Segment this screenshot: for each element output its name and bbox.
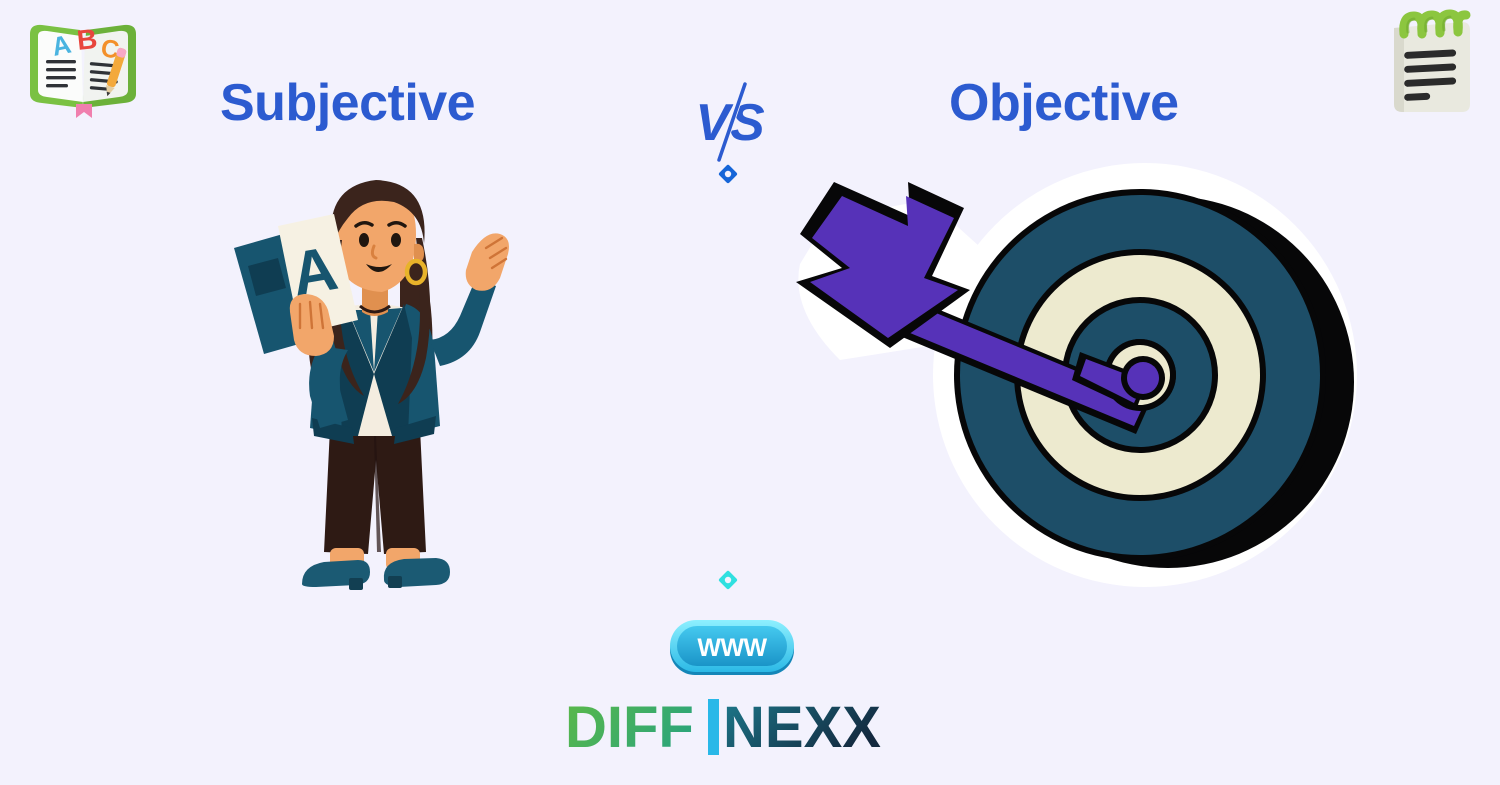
spiral-notepad-icon: [1378, 8, 1476, 120]
www-badge-text: WWW: [697, 634, 767, 662]
left-side-title: Subjective: [220, 73, 475, 133]
open-book-abc-icon: A B C: [22, 8, 144, 120]
connector-bottom-node: [718, 570, 738, 590]
versus-badge: VS: [688, 80, 772, 164]
logo-separator-bar: [708, 699, 719, 755]
dart-hitting-bullseye-target-illustration: [780, 160, 1390, 605]
www-badge-icon: WWW: [668, 617, 796, 679]
brand-logo[interactable]: DIFF NEXX: [565, 695, 905, 761]
svg-text:B: B: [75, 23, 98, 56]
woman-holding-grade-cards-illustration: A: [224, 160, 524, 605]
vertical-connector-line: [707, 162, 749, 592]
logo-part-one: DIFF: [565, 695, 694, 760]
right-side-title: Objective: [949, 73, 1179, 133]
logo-part-two: NEXX: [723, 695, 881, 760]
connector-top-node: [718, 164, 738, 184]
comparison-infographic: A B C: [0, 0, 1500, 785]
